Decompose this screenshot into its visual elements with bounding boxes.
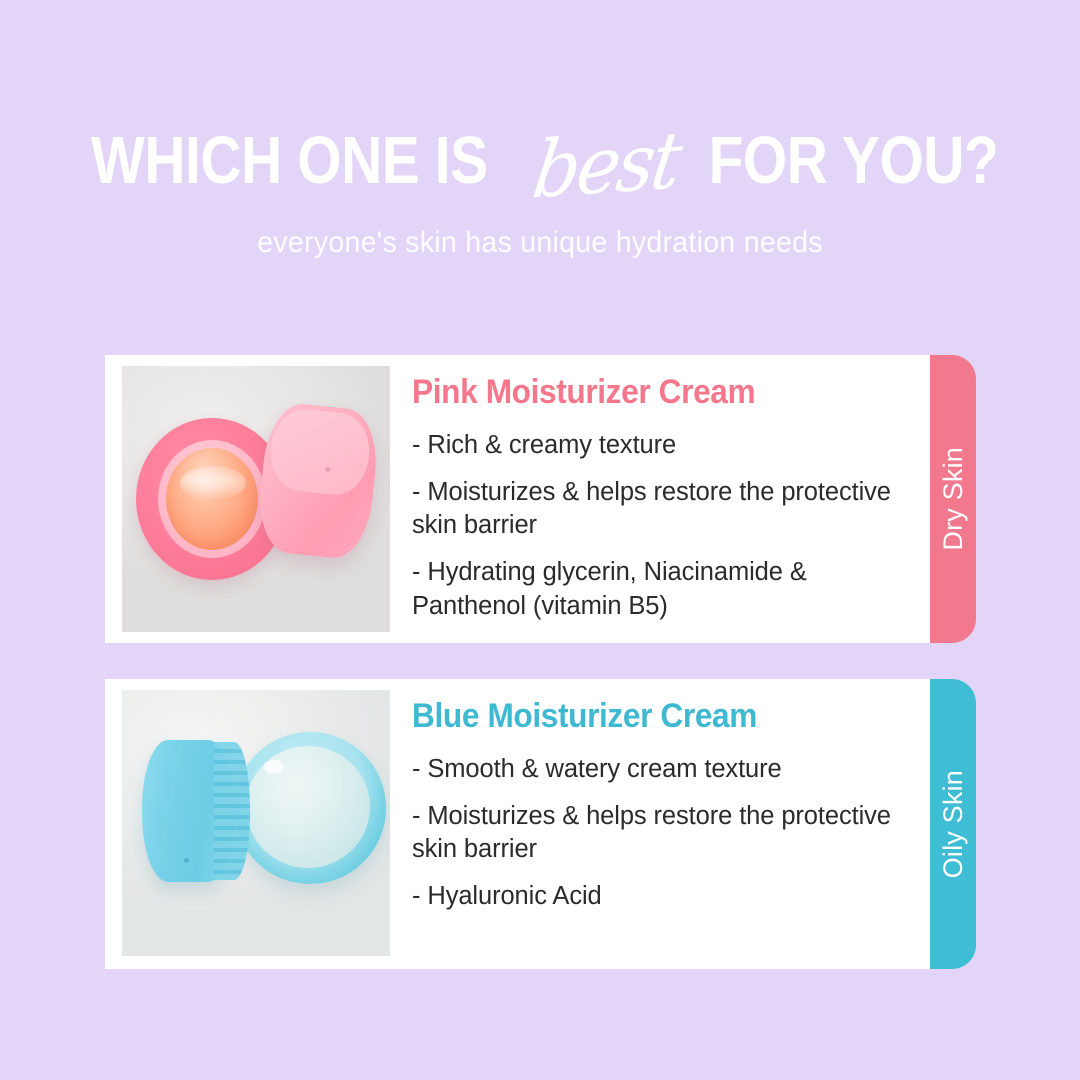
product-image-wrapper-pink xyxy=(105,355,390,643)
page-subtitle: everyone's skin has unique hydration nee… xyxy=(27,226,1053,260)
product-bullet: - Hydrating glycerin, Niacinamide & Pant… xyxy=(412,556,896,623)
blue-jar-body-icon xyxy=(234,732,386,884)
headline-part-2: FOR YOU? xyxy=(709,118,999,204)
product-card-blue[interactable]: Blue Moisturizer Cream - Smooth & watery… xyxy=(105,679,930,969)
pink-cream-surface xyxy=(166,448,258,550)
product-image-pink xyxy=(122,366,390,632)
product-image-blue xyxy=(122,690,390,956)
product-card-pink[interactable]: Pink Moisturizer Cream - Rich & creamy t… xyxy=(105,355,930,643)
product-bullet: - Hyaluronic Acid xyxy=(412,880,896,914)
product-copy-pink: Pink Moisturizer Cream - Rich & creamy t… xyxy=(390,355,930,623)
blue-gel-surface xyxy=(246,746,370,868)
blue-lid-center-dot xyxy=(184,858,189,863)
header-block: WHICH ONE IS best FOR YOU? everyone's sk… xyxy=(0,118,1080,260)
headline-part-1: WHICH ONE IS xyxy=(91,118,488,204)
skin-type-tab-dry[interactable]: Dry Skin xyxy=(930,355,976,643)
product-image-wrapper-blue xyxy=(105,679,390,967)
product-bullet: - Moisturizes & helps restore the protec… xyxy=(412,800,896,867)
skin-type-tab-label: Oily Skin xyxy=(938,770,969,878)
page-headline: WHICH ONE IS best FOR YOU? xyxy=(0,118,1080,204)
product-bullet: - Moisturizes & helps restore the protec… xyxy=(412,476,896,543)
pink-jar-inner-rim xyxy=(158,440,266,558)
headline-script-word: best xyxy=(527,113,685,217)
skin-type-tab-label: Dry Skin xyxy=(938,447,969,551)
product-bullet: - Smooth & watery cream texture xyxy=(412,753,896,787)
product-title-blue: Blue Moisturizer Cream xyxy=(412,697,862,736)
product-title-pink: Pink Moisturizer Cream xyxy=(412,373,862,412)
blue-lid-ridges xyxy=(214,742,250,880)
product-copy-blue: Blue Moisturizer Cream - Smooth & watery… xyxy=(390,679,930,914)
skin-type-tab-oily[interactable]: Oily Skin xyxy=(930,679,976,969)
product-bullet: - Rich & creamy texture xyxy=(412,429,896,463)
